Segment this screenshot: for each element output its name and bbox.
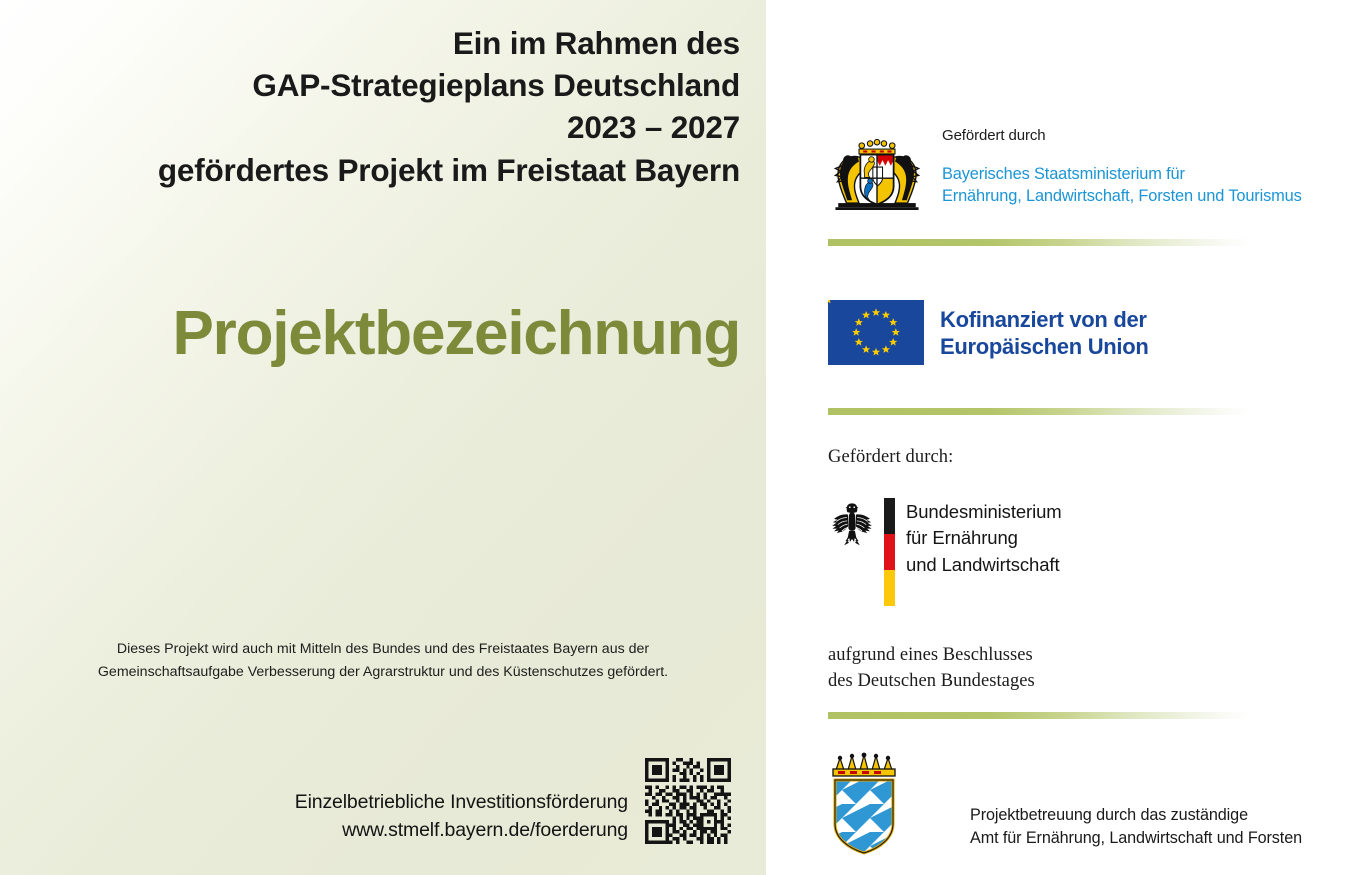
federal-ministry-name-line-2: für Ernährung bbox=[906, 525, 1352, 551]
programme-header-line-2: GAP-Strategieplans Deutschland bbox=[40, 64, 740, 106]
aelf-name: Projektbetreuung durch das zuständige Am… bbox=[828, 752, 1352, 850]
european-union-row: Kofinanziert von der Europäischen Union bbox=[766, 298, 1352, 370]
funding-footnote-line-1: Dieses Projekt wird auch mit Mitteln des… bbox=[24, 638, 742, 661]
bavarian-ministry-eyebrow: Gefördert durch bbox=[942, 126, 1352, 146]
european-union-name-line-1: Kofinanziert von der bbox=[940, 306, 1352, 333]
programme-header-line-4: gefördertes Projekt im Freistaat Bayern bbox=[40, 149, 740, 191]
right-panel: Gefördert durch Bayerisches Staatsminist… bbox=[766, 0, 1352, 875]
federal-ministry-name: Bundesministerium für Ernährung und Land… bbox=[828, 498, 1352, 578]
aelf-name-line-2: Amt für Ernährung, Landwirtschaft und Fo… bbox=[970, 827, 1352, 850]
bavarian-ministry-name-line-2: Ernährung, Landwirtschaft, Forsten und T… bbox=[942, 185, 1352, 208]
german-flag-bar-icon bbox=[884, 498, 895, 606]
bavarian-shield-icon bbox=[828, 752, 900, 856]
bavarian-ministry-name: Bayerisches Staatsministerium für Ernähr… bbox=[942, 163, 1352, 208]
flag-stripe-black bbox=[884, 498, 895, 534]
divider-1 bbox=[828, 239, 1252, 246]
flag-stripe-gold bbox=[884, 570, 895, 606]
european-union-name-line-2: Europäischen Union bbox=[940, 333, 1352, 360]
funder-block-bavarian-ministry: Gefördert durch Bayerisches Staatsminist… bbox=[766, 126, 1352, 208]
federal-ministry-eyebrow: Gefördert durch: bbox=[766, 447, 1352, 468]
bundestag-resolution-line-2: des Deutschen Bundestages bbox=[828, 668, 1352, 694]
programme-header: Ein im Rahmen des GAP-Strategieplans Deu… bbox=[40, 22, 740, 191]
federal-ministry-name-line-3: und Landwirtschaft bbox=[906, 552, 1352, 578]
bavarian-ministry-row: Gefördert durch Bayerisches Staatsminist… bbox=[766, 126, 1352, 208]
programme-header-line-1: Ein im Rahmen des bbox=[40, 22, 740, 64]
bundestag-resolution-note: aufgrund eines Beschlusses des Deutschen… bbox=[766, 642, 1352, 695]
eu-flag-icon bbox=[828, 300, 924, 365]
funder-block-aelf: Projektbetreuung durch das zuständige Am… bbox=[766, 752, 1352, 860]
programme-footer-text: Einzelbetriebliche Investitionsförderung… bbox=[295, 788, 628, 844]
programme-name-label: Einzelbetriebliche Investitionsförderung bbox=[295, 788, 628, 816]
funder-block-federal-ministry: Gefördert durch: bbox=[766, 447, 1352, 695]
funding-footnote-line-2: Gemeinschaftsaufgabe Verbesserung der Ag… bbox=[24, 661, 742, 684]
programme-url-link[interactable]: www.stmelf.bayern.de/foerderung bbox=[295, 816, 628, 844]
bavarian-state-coat-of-arms-icon bbox=[828, 138, 926, 210]
qr-code-icon[interactable] bbox=[645, 758, 731, 844]
funder-block-european-union: Kofinanziert von der Europäischen Union bbox=[766, 298, 1352, 370]
aelf-row: Projektbetreuung durch das zuständige Am… bbox=[766, 752, 1352, 860]
programme-footer: Einzelbetriebliche Investitionsförderung… bbox=[0, 788, 766, 870]
federal-eagle-icon bbox=[828, 500, 876, 548]
bundestag-resolution-line-1: aufgrund eines Beschlusses bbox=[828, 642, 1352, 668]
poster-canvas: Ein im Rahmen des GAP-Strategieplans Deu… bbox=[0, 0, 1352, 875]
page-title: Projektbezeichnung bbox=[0, 303, 740, 365]
aelf-name-line-1: Projektbetreuung durch das zuständige bbox=[970, 804, 1352, 827]
funding-footnote: Dieses Projekt wird auch mit Mitteln des… bbox=[24, 638, 742, 684]
bavarian-ministry-name-line-1: Bayerisches Staatsministerium für bbox=[942, 163, 1352, 186]
divider-3 bbox=[828, 712, 1252, 719]
federal-ministry-name-line-1: Bundesministerium bbox=[906, 499, 1352, 525]
flag-stripe-red bbox=[884, 534, 895, 570]
divider-2 bbox=[828, 408, 1252, 415]
programme-header-line-3: 2023 – 2027 bbox=[40, 106, 740, 148]
left-panel: Ein im Rahmen des GAP-Strategieplans Deu… bbox=[0, 0, 766, 875]
federal-ministry-row: Bundesministerium für Ernährung und Land… bbox=[766, 498, 1352, 608]
